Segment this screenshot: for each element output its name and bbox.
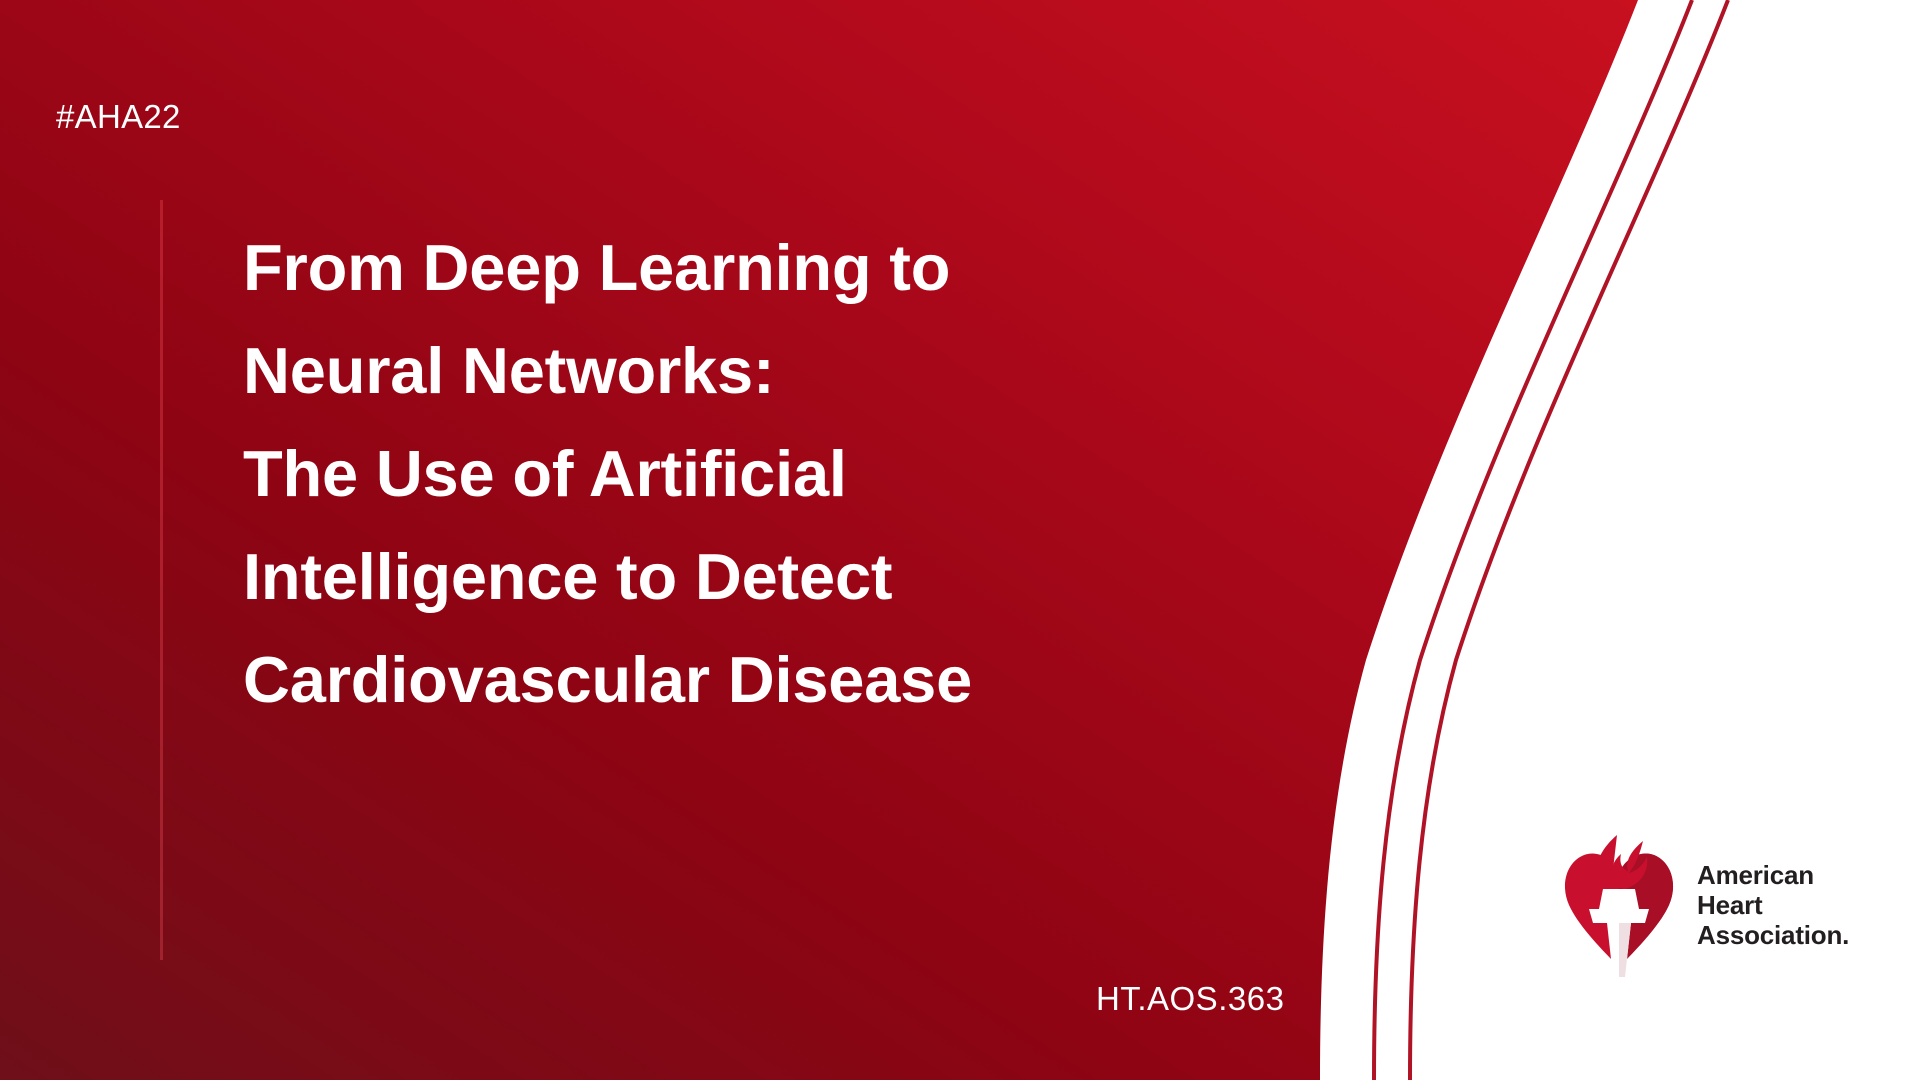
abstract-code: HT.AOS.363 [1096, 982, 1284, 1015]
title-line-1: From Deep Learning to [243, 216, 1203, 319]
aha-heart-torch-icon [1559, 827, 1679, 977]
slide-title: From Deep Learning to Neural Networks: T… [243, 216, 1203, 731]
title-line-4: Intelligence to Detect [243, 525, 1203, 628]
wordmark-line-2: Heart [1697, 890, 1849, 920]
aha-logo-lockup: American Heart Association. [1559, 822, 1859, 982]
title-accent-rule [160, 200, 163, 960]
aha-wordmark: American Heart Association. [1697, 854, 1849, 950]
wordmark-line-1: American [1697, 860, 1849, 890]
event-hashtag: #AHA22 [56, 100, 181, 133]
title-line-2: Neural Networks: [243, 319, 1203, 422]
wordmark-line-3: Association. [1697, 920, 1849, 950]
presentation-title-slide: #AHA22 From Deep Learning to Neural Netw… [0, 0, 1920, 1080]
title-line-5: Cardiovascular Disease [243, 628, 1203, 731]
title-line-3: The Use of Artificial [243, 422, 1203, 525]
